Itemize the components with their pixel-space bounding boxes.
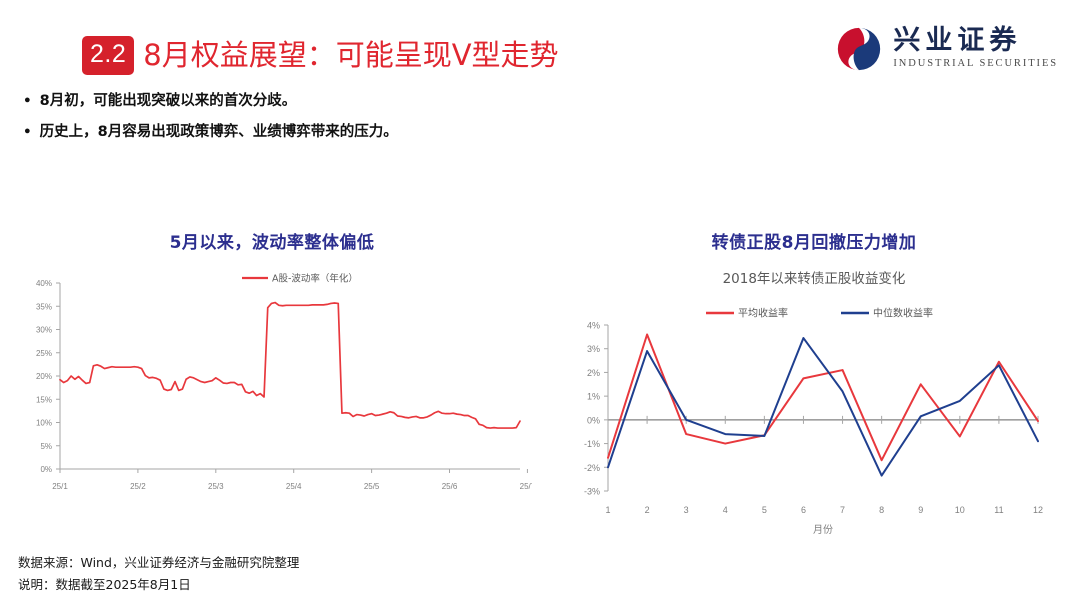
bullet-marker-icon: ● <box>24 95 31 106</box>
svg-text:35%: 35% <box>36 302 52 311</box>
svg-text:40%: 40% <box>36 279 52 288</box>
footer-source: 数据来源：Wind，兴业证券经济与金融研究院整理 <box>18 552 299 574</box>
svg-text:-2%: -2% <box>584 463 600 473</box>
svg-text:10: 10 <box>955 505 965 515</box>
chart-title: 5月以来，波动率整体偏低 <box>12 228 532 253</box>
svg-text:中位数收益率: 中位数收益率 <box>873 307 933 320</box>
svg-text:-3%: -3% <box>584 487 600 497</box>
svg-text:1: 1 <box>605 505 610 515</box>
convertible-returns-chart: -3%-2%-1%0%1%2%3%4%123456789101112月份平均收益… <box>556 295 1072 543</box>
svg-text:4%: 4% <box>587 321 600 331</box>
footer: 数据来源：Wind，兴业证券经济与金融研究院整理 说明：数据截至2025年8月1… <box>18 552 299 596</box>
bullet-marker-icon: ● <box>24 126 31 137</box>
svg-text:25/3: 25/3 <box>208 482 224 491</box>
svg-text:A股-波动率（年化）: A股-波动率（年化） <box>272 273 358 285</box>
logo-name-en: INDUSTRIAL SECURITIES <box>893 57 1058 71</box>
svg-text:2%: 2% <box>587 368 600 378</box>
section-number-badge: 2.2 <box>82 36 134 75</box>
svg-text:0%: 0% <box>587 415 600 425</box>
svg-text:25/5: 25/5 <box>364 482 380 491</box>
slide: 2.2 8月权益展望：可能呈现V型走势 兴业证券 INDUSTRIAL SECU… <box>0 0 1080 608</box>
svg-text:-1%: -1% <box>584 439 600 449</box>
svg-text:25/4: 25/4 <box>286 482 302 491</box>
svg-text:25/7: 25/7 <box>520 482 532 491</box>
svg-text:3: 3 <box>684 505 689 515</box>
svg-text:5: 5 <box>762 505 767 515</box>
company-logo: 兴业证券 INDUSTRIAL SECURITIES <box>836 26 1058 72</box>
svg-text:25/1: 25/1 <box>52 482 68 491</box>
page-title-text: 8月权益展望：可能呈现V型走势 <box>143 41 558 70</box>
svg-text:4: 4 <box>723 505 728 515</box>
svg-text:30%: 30% <box>36 326 52 335</box>
svg-text:1%: 1% <box>587 392 600 402</box>
svg-text:2: 2 <box>645 505 650 515</box>
chart-panel-convertible: 转债正股8月回撤压力增加 2018年以来转债正股收益变化 -3%-2%-1%0%… <box>556 228 1072 543</box>
svg-text:5%: 5% <box>40 442 52 451</box>
volatility-chart: 0%5%10%15%20%25%30%35%40%25/125/225/325/… <box>12 261 532 511</box>
svg-text:0%: 0% <box>40 465 52 474</box>
slide-header: 2.2 8月权益展望：可能呈现V型走势 兴业证券 INDUSTRIAL SECU… <box>0 0 1080 90</box>
chart-panel-volatility: 5月以来，波动率整体偏低 0%5%10%15%20%25%30%35%40%25… <box>12 228 532 511</box>
logo-swirl-icon <box>836 26 882 72</box>
bullet-text: 8月初，可能出现突破以来的首次分歧。 <box>40 92 297 112</box>
chart-title: 转债正股8月回撤压力增加 <box>556 228 1072 253</box>
list-item: ● 8月初，可能出现突破以来的首次分歧。 <box>24 92 924 112</box>
bullet-list: ● 8月初，可能出现突破以来的首次分歧。 ● 历史上，8月容易出现政策博弈、业绩… <box>24 92 924 153</box>
chart-subtitle: 2018年以来转债正股收益变化 <box>556 267 1072 287</box>
list-item: ● 历史上，8月容易出现政策博弈、业绩博弈带来的压力。 <box>24 123 924 143</box>
svg-text:9: 9 <box>918 505 923 515</box>
svg-text:6: 6 <box>801 505 806 515</box>
svg-text:25%: 25% <box>36 349 52 358</box>
logo-name-cn: 兴业证券 <box>893 27 1021 55</box>
svg-text:12: 12 <box>1033 505 1043 515</box>
svg-text:25/2: 25/2 <box>130 482 146 491</box>
svg-text:20%: 20% <box>36 372 52 381</box>
svg-text:25/6: 25/6 <box>442 482 458 491</box>
svg-text:平均收益率: 平均收益率 <box>738 307 788 320</box>
svg-text:3%: 3% <box>587 344 600 354</box>
bullet-text: 历史上，8月容易出现政策博弈、业绩博弈带来的压力。 <box>40 123 398 143</box>
svg-text:7: 7 <box>840 505 845 515</box>
svg-text:11: 11 <box>994 505 1003 515</box>
page-title: 2.2 8月权益展望：可能呈现V型走势 <box>82 36 559 75</box>
svg-text:月份: 月份 <box>813 524 833 536</box>
footer-note: 说明：数据截至2025年8月1日 <box>18 574 299 596</box>
svg-text:8: 8 <box>879 505 884 515</box>
svg-text:15%: 15% <box>36 395 52 404</box>
svg-text:10%: 10% <box>36 419 52 428</box>
logo-wordmark: 兴业证券 INDUSTRIAL SECURITIES <box>893 27 1058 71</box>
